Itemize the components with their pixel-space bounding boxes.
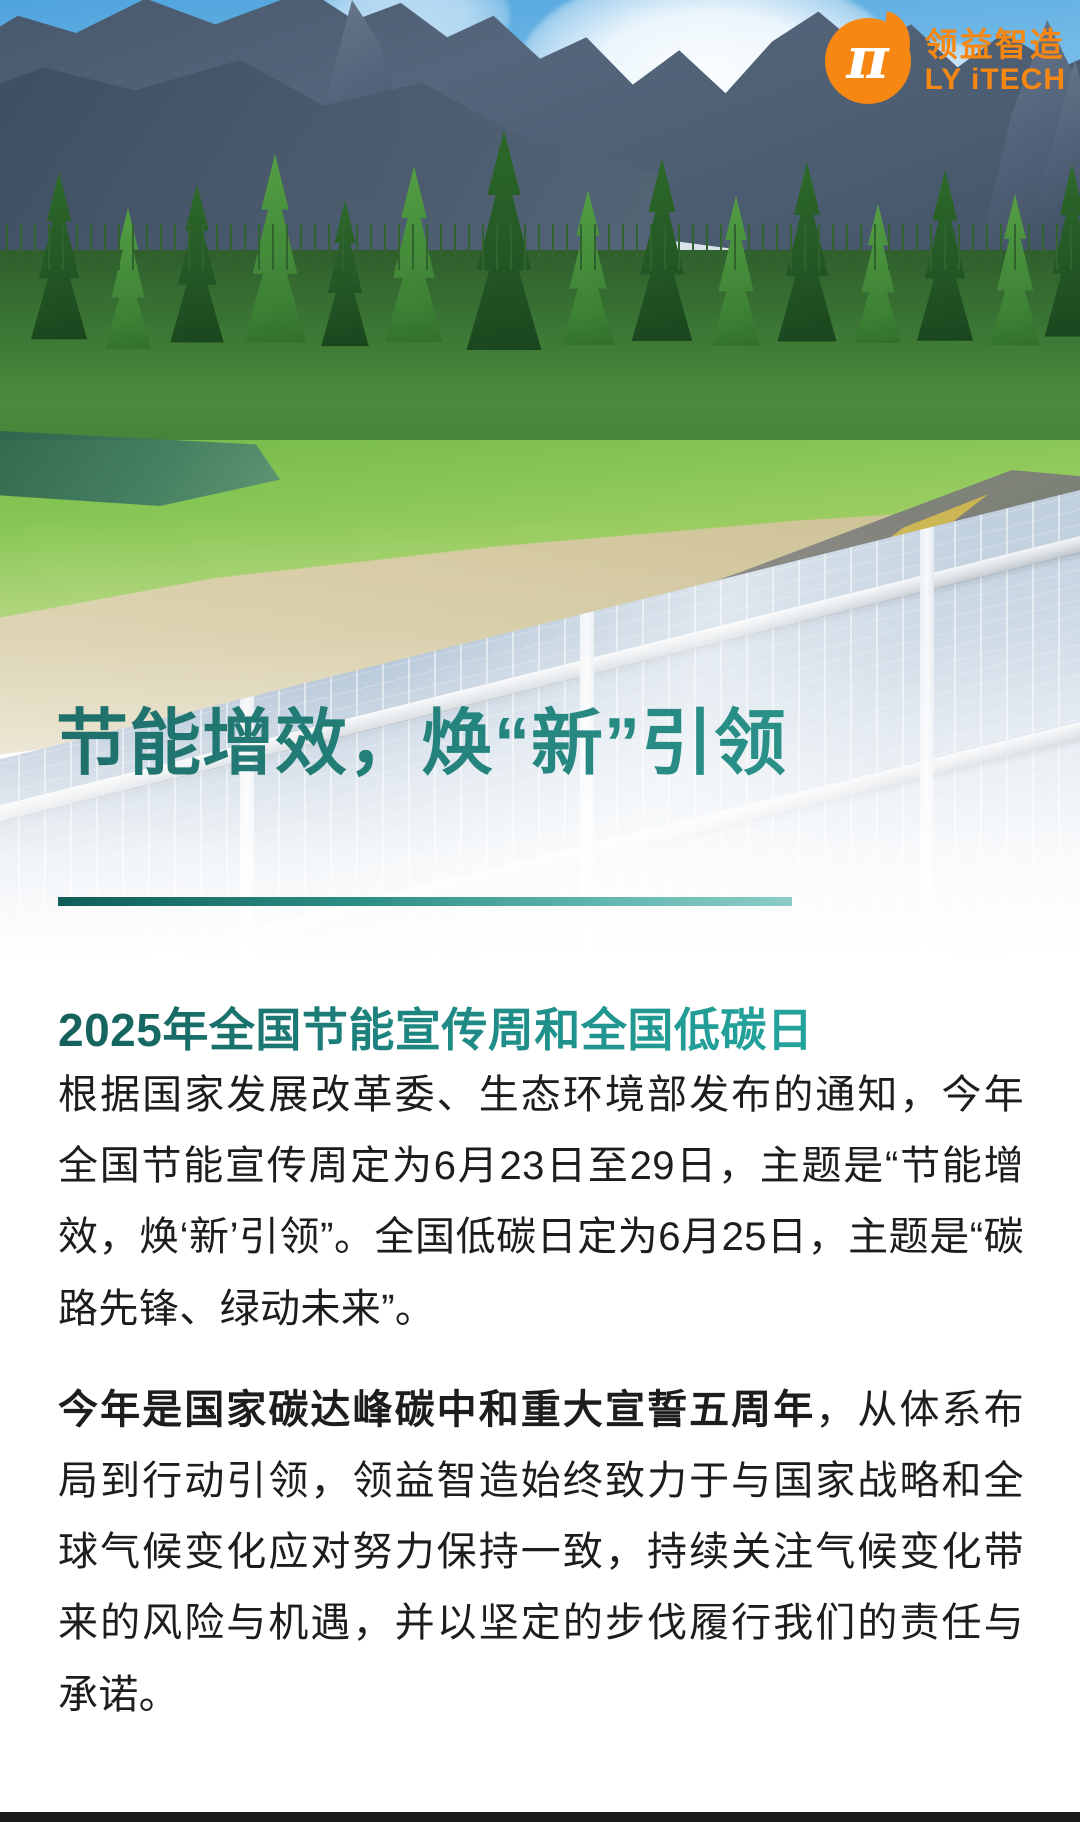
pi-glyph: π <box>825 18 911 104</box>
hero-image <box>0 0 1080 1000</box>
body-text: 根据国家发展改革委、生态环境部发布的通知，今年全国节能宣传周定为6月23日至29… <box>58 1060 1024 1761</box>
company-logo[interactable]: π 领益智造 LY iTECH <box>825 18 1066 104</box>
emphasis-text: 今年是国家碳达峰碳中和重大宣誓五周年 <box>58 1388 815 1432</box>
logo-name-en: LY iTECH <box>925 65 1066 95</box>
page-title: 节能增效，焕“新”引领 <box>56 703 1036 787</box>
pine-tree <box>312 200 378 366</box>
pine-tree <box>96 208 160 368</box>
paragraph-p2: 今年是国家碳达峰碳中和重大宣誓五周年，从体系布局到行动引领，领益智造始终致力于与… <box>58 1375 1024 1731</box>
poster-page: π 领益智造 LY iTECH 节能增效，焕“新”引领 2025年全国节能宣传周… <box>0 0 1080 1822</box>
pine-tree <box>846 204 910 362</box>
bottom-bar <box>0 1812 1080 1822</box>
title-divider <box>58 897 792 906</box>
paragraph-p1: 根据国家发展改革委、生态环境部发布的通知，今年全国节能宣传周定为6月23日至29… <box>58 1060 1024 1345</box>
logo-name-cn: 领益智造 <box>925 28 1066 61</box>
paragraph-text: 根据国家发展改革委、生态环境部发布的通知，今年全国节能宣传周定为6月23日至29… <box>58 1073 1024 1331</box>
page-subtitle: 2025年全国节能宣传周和全国低碳日 <box>58 1003 1038 1058</box>
paragraph-text: ，从体系布局到行动引领，领益智造始终致力于与国家战略和全球气候变化应对努力保持一… <box>58 1388 1024 1717</box>
pi-leaf-logo-icon: π <box>825 18 911 104</box>
logo-wordmark: 领益智造 LY iTECH <box>925 28 1066 95</box>
